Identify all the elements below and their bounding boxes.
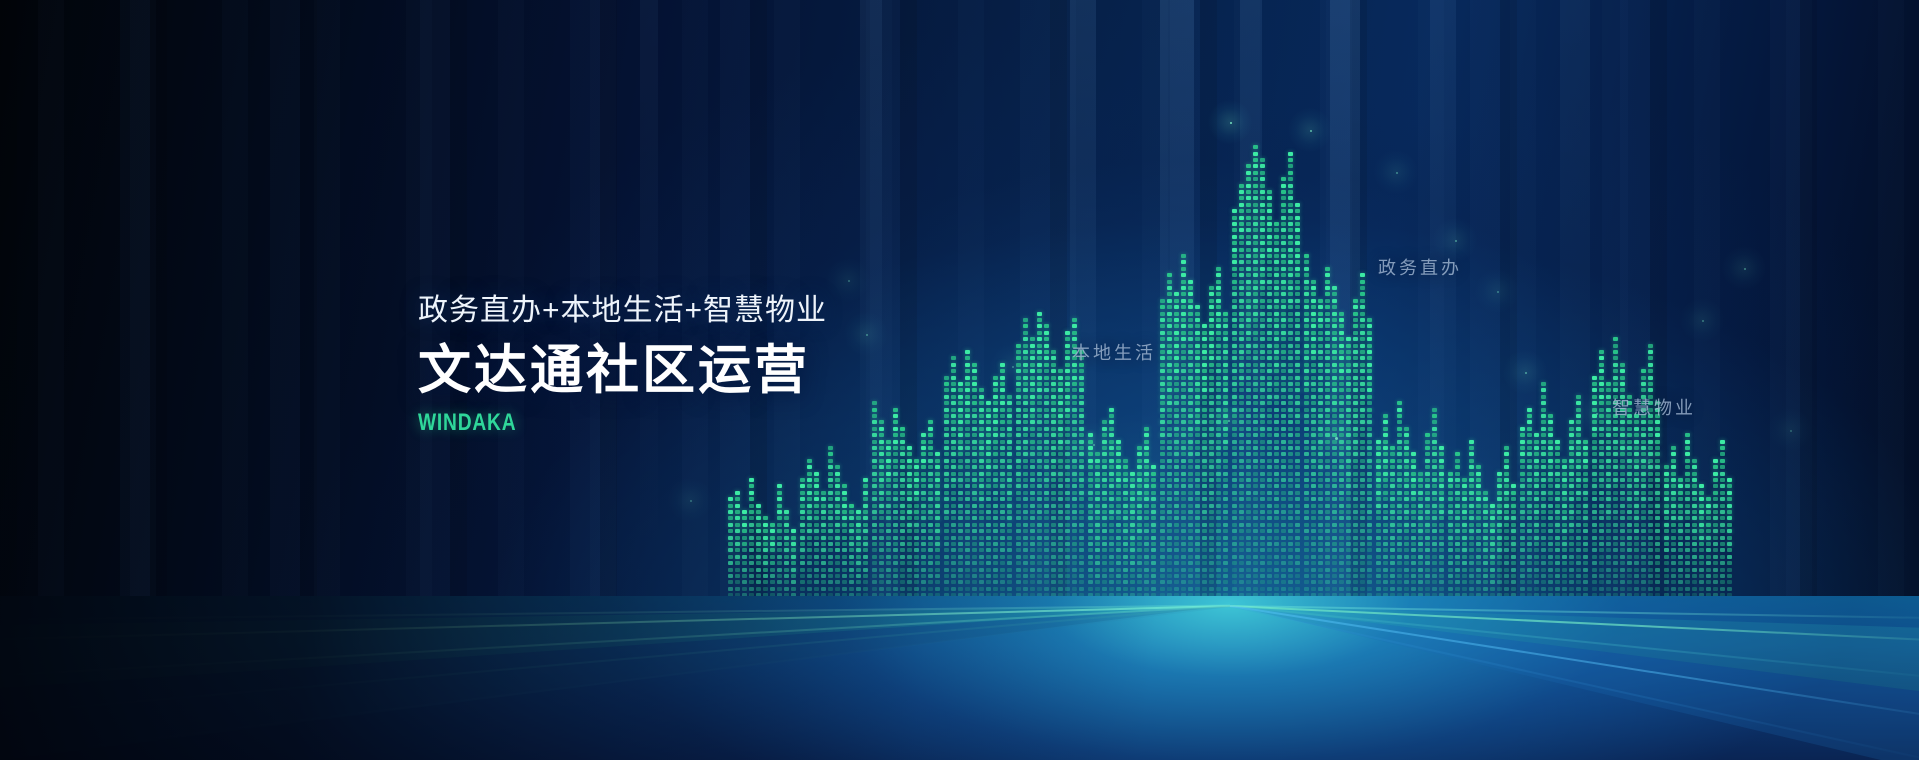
skyline-dot — [944, 548, 949, 552]
skyline-dot — [1295, 561, 1300, 565]
skyline-dot — [1267, 267, 1272, 271]
skyline-dot — [1411, 529, 1416, 533]
skyline-dot — [1232, 440, 1237, 444]
skyline-dot — [1520, 478, 1525, 482]
skyline-dot — [1288, 414, 1293, 418]
skyline-dot — [1281, 299, 1286, 303]
skyline-dot — [1253, 273, 1258, 277]
skyline-dot — [1274, 292, 1279, 296]
skyline-dot — [1720, 440, 1725, 444]
skyline-dot — [921, 568, 926, 572]
skyline-dot — [1239, 382, 1244, 386]
skyline-dot — [1088, 574, 1093, 578]
skyline-dot — [1195, 580, 1200, 584]
skyline-dot — [1065, 504, 1070, 508]
skyline-dot — [951, 574, 956, 578]
skyline-dot — [1655, 510, 1660, 514]
skyline-dot — [1462, 555, 1467, 559]
skyline-dot — [1311, 433, 1316, 437]
skyline-dot — [928, 433, 933, 437]
skyline-dot — [1246, 190, 1251, 194]
skyline-dot — [1648, 427, 1653, 431]
skyline-dot — [1253, 312, 1258, 316]
skyline-dot — [1648, 548, 1653, 552]
skyline-dot — [1339, 408, 1344, 412]
skyline-dot — [1058, 465, 1063, 469]
skyline-dot — [1497, 497, 1502, 501]
skyline-dot — [1527, 452, 1532, 456]
skyline-dot — [1288, 555, 1293, 559]
skyline-dot — [1367, 344, 1372, 348]
skyline-dot — [1037, 568, 1042, 572]
skyline-dot — [1223, 376, 1228, 380]
skyline-dot — [800, 516, 805, 520]
skyline-dot — [1160, 324, 1165, 328]
skyline-dot — [1216, 388, 1221, 392]
skyline-dot — [1246, 273, 1251, 277]
skyline-dot — [1318, 446, 1323, 450]
skyline-dot — [1102, 529, 1107, 533]
skyline-dot — [1281, 523, 1286, 527]
skyline-dot — [1007, 510, 1012, 514]
skyline-dot — [1123, 561, 1128, 565]
skyline-dot — [1664, 555, 1669, 559]
skyline-dot — [1367, 523, 1372, 527]
skyline-dot — [1016, 548, 1021, 552]
skyline-dot — [1000, 395, 1005, 399]
skyline-dot — [935, 459, 940, 463]
skyline-dot — [951, 452, 956, 456]
skyline-dot — [1353, 401, 1358, 405]
skyline-dot — [1483, 510, 1488, 514]
skyline-bar — [1376, 434, 1381, 606]
skyline-dot — [1195, 491, 1200, 495]
skyline-dot — [1606, 536, 1611, 540]
skyline-bar — [1548, 408, 1553, 606]
skyline-dot — [951, 363, 956, 367]
skyline-dot — [1102, 580, 1107, 584]
skyline-dot — [1641, 523, 1646, 527]
skyline-dot — [1044, 574, 1049, 578]
skyline-dot — [900, 523, 905, 527]
skyline-dot — [1462, 548, 1467, 552]
skyline-dot — [979, 427, 984, 431]
skyline-dot — [1195, 305, 1200, 309]
skyline-dot — [1360, 305, 1365, 309]
skyline-dot — [879, 452, 884, 456]
skyline-dot — [1599, 388, 1604, 392]
skyline-dot — [1246, 484, 1251, 488]
skyline-dot — [1497, 580, 1502, 584]
skyline-dot — [1116, 497, 1121, 501]
skyline-dot — [1462, 497, 1467, 501]
skyline-dot — [1397, 574, 1402, 578]
skyline-dot — [921, 491, 926, 495]
skyline-dot — [1548, 574, 1553, 578]
skyline-dot — [1088, 497, 1093, 501]
skyline-dot — [979, 452, 984, 456]
skyline-dot — [1713, 478, 1718, 482]
skyline-dot — [1318, 529, 1323, 533]
skyline-dot — [1202, 440, 1207, 444]
skyline-dot — [1541, 580, 1546, 584]
skyline-dot — [972, 395, 977, 399]
skyline-dot — [1325, 504, 1330, 508]
skyline-dot — [1295, 414, 1300, 418]
skyline-dot — [1058, 580, 1063, 584]
skyline-dot — [749, 523, 754, 527]
skyline-dot — [1007, 529, 1012, 533]
skyline-dot — [1000, 465, 1005, 469]
skyline-dot — [1534, 497, 1539, 501]
skyline-dot — [1144, 440, 1149, 444]
skyline-dot — [1246, 241, 1251, 245]
skyline-dot — [879, 465, 884, 469]
skyline-dot — [1274, 369, 1279, 373]
skyline-dot — [1181, 292, 1186, 296]
skyline-dot — [1044, 504, 1049, 508]
skyline-dot — [800, 478, 805, 482]
skyline-dot — [1030, 542, 1035, 546]
skyline-dot — [1404, 504, 1409, 508]
skyline-dot — [1195, 536, 1200, 540]
skyline-dot — [1239, 299, 1244, 303]
skyline-dot — [1339, 427, 1344, 431]
skyline-dot — [907, 472, 912, 476]
skyline-dot — [886, 472, 891, 476]
skyline-dot — [1246, 254, 1251, 258]
skyline-dot — [1304, 369, 1309, 373]
skyline-dot — [1448, 574, 1453, 578]
skyline-dot — [1613, 516, 1618, 520]
skyline-dot — [886, 452, 891, 456]
skyline-dot — [1599, 408, 1604, 412]
skyline-dot — [900, 427, 905, 431]
skyline-dot — [1167, 472, 1172, 476]
skyline-dot — [1671, 548, 1676, 552]
skyline-dot — [1541, 504, 1546, 508]
skyline-dot — [1641, 491, 1646, 495]
skyline-dot — [1267, 568, 1272, 572]
skyline-dot — [1051, 440, 1056, 444]
skyline-dot — [1167, 388, 1172, 392]
skyline-dot — [1295, 254, 1300, 258]
skyline-dot — [1627, 580, 1632, 584]
skyline-dot — [1058, 427, 1063, 431]
skyline-dot — [784, 516, 789, 520]
skyline-dot — [1288, 574, 1293, 578]
skyline-dot — [1232, 267, 1237, 271]
skyline-dot — [1065, 433, 1070, 437]
skyline-dot — [1246, 427, 1251, 431]
skyline-dot — [1432, 548, 1437, 552]
skyline-dot — [935, 484, 940, 488]
skyline-dot — [1030, 472, 1035, 476]
skyline-dot — [972, 363, 977, 367]
skyline-dot — [1655, 484, 1660, 488]
skyline-dot — [842, 542, 847, 546]
skyline-dot — [1274, 561, 1279, 565]
skyline-dot — [1576, 555, 1581, 559]
skyline-dot — [784, 548, 789, 552]
skyline-dot — [1181, 318, 1186, 322]
skyline-dot — [1267, 536, 1272, 540]
skyline-dot — [1023, 536, 1028, 540]
skyline-dot — [1260, 273, 1265, 277]
skyline-dot — [1065, 388, 1070, 392]
skyline-dot — [1678, 555, 1683, 559]
skyline-dot — [1353, 305, 1358, 309]
skyline-dot — [1455, 478, 1460, 482]
skyline-dot — [1095, 580, 1100, 584]
skyline-dot — [1174, 472, 1179, 476]
skyline-dot — [1030, 420, 1035, 424]
skyline-dot — [1569, 574, 1574, 578]
skyline-dot — [1576, 574, 1581, 578]
skyline-dot — [1051, 568, 1056, 572]
skyline-dot — [1692, 491, 1697, 495]
skyline-dot — [849, 574, 854, 578]
skyline-dot — [1253, 337, 1258, 341]
skyline-dot — [1246, 459, 1251, 463]
skyline-dot — [1439, 542, 1444, 546]
skyline-dot — [886, 484, 891, 488]
skyline-dot — [1281, 331, 1286, 335]
skyline-dot — [1390, 568, 1395, 572]
skyline-dot — [1432, 472, 1437, 476]
skyline-dot — [1304, 254, 1309, 258]
skyline-dot — [1274, 273, 1279, 277]
skyline-dot — [1325, 420, 1330, 424]
skyline-dot — [1325, 369, 1330, 373]
skyline-dot — [1007, 395, 1012, 399]
skyline-dot — [1295, 401, 1300, 405]
skyline-dot — [1188, 574, 1193, 578]
district-label: 智慧物业 — [1612, 394, 1696, 420]
skyline-dot — [1360, 356, 1365, 360]
skyline-dot — [1367, 427, 1372, 431]
skyline-dot — [1188, 555, 1193, 559]
skyline-bar — [1685, 428, 1690, 606]
skyline-dot — [1102, 536, 1107, 540]
skyline-dot — [1000, 580, 1005, 584]
skyline-dot — [1353, 465, 1358, 469]
skyline-dot — [1167, 312, 1172, 316]
skyline-dot — [1692, 516, 1697, 520]
skyline-dot — [1376, 440, 1381, 444]
skyline-dot — [1295, 478, 1300, 482]
skyline-dot — [1232, 356, 1237, 360]
skyline-dot — [928, 529, 933, 533]
skyline-dot — [1023, 497, 1028, 501]
skyline-dot — [1239, 427, 1244, 431]
skyline-dot — [1541, 510, 1546, 514]
skyline-dot — [1569, 433, 1574, 437]
skyline-dot — [1246, 395, 1251, 399]
skyline-dot — [1058, 452, 1063, 456]
skyline-dot — [1295, 548, 1300, 552]
skyline-dot — [1065, 382, 1070, 386]
skyline-dot — [1534, 555, 1539, 559]
skyline-dot — [1376, 478, 1381, 482]
skyline-bar — [828, 446, 833, 606]
skyline-dot — [807, 536, 812, 540]
skyline-dot — [1541, 395, 1546, 399]
skyline-dot — [763, 516, 768, 520]
skyline-dot — [1332, 459, 1337, 463]
skyline-dot — [872, 484, 877, 488]
skyline-dot — [1051, 446, 1056, 450]
skyline-bar — [879, 418, 884, 606]
skyline-dot — [1655, 433, 1660, 437]
skyline-dot — [1655, 472, 1660, 476]
skyline-dot — [1664, 491, 1669, 495]
skyline-dot — [1383, 465, 1388, 469]
skyline-dot — [1346, 382, 1351, 386]
skyline-dot — [1685, 504, 1690, 508]
skyline-dot — [1641, 427, 1646, 431]
skyline-dot — [886, 561, 891, 565]
skyline-dot — [1174, 344, 1179, 348]
skyline-dot — [742, 548, 747, 552]
skyline-bar — [1079, 344, 1084, 606]
skyline-dot — [1181, 433, 1186, 437]
skyline-dot — [1044, 478, 1049, 482]
skyline-dot — [1144, 433, 1149, 437]
skyline-dot — [1232, 337, 1237, 341]
skyline-dot — [1167, 318, 1172, 322]
skyline-dot — [1030, 491, 1035, 495]
skyline-dot — [1232, 472, 1237, 476]
skyline-dot — [1555, 472, 1560, 476]
skyline-dot — [1288, 516, 1293, 520]
skyline-dot — [1267, 299, 1272, 303]
skyline-dot — [879, 459, 884, 463]
skyline-dot — [1418, 561, 1423, 565]
skyline-dot — [879, 574, 884, 578]
skyline-dot — [863, 580, 868, 584]
skyline-dot — [1007, 516, 1012, 520]
skyline-dot — [1548, 516, 1553, 520]
skyline-dot — [1439, 510, 1444, 514]
skyline-dot — [1311, 504, 1316, 508]
skyline-dot — [1044, 472, 1049, 476]
skyline-dot — [1232, 216, 1237, 220]
skyline-dot — [1706, 529, 1711, 533]
skyline-dot — [1288, 420, 1293, 424]
skyline-dot — [1418, 484, 1423, 488]
skyline-dot — [1216, 376, 1221, 380]
skyline-dot — [921, 484, 926, 488]
skyline-dot — [1030, 356, 1035, 360]
skyline-dot — [1051, 574, 1056, 578]
skyline-dot — [944, 433, 949, 437]
skyline-dot — [1339, 446, 1344, 450]
skyline-dot — [1181, 395, 1186, 399]
skyline-dot — [1295, 408, 1300, 412]
skyline-dot — [1167, 491, 1172, 495]
skyline-dot — [1037, 382, 1042, 386]
skyline-dot — [1030, 516, 1035, 520]
skyline-dot — [814, 510, 819, 514]
skyline-dot — [1325, 465, 1330, 469]
skyline-dot — [1504, 580, 1509, 584]
skyline-dot — [921, 504, 926, 508]
skyline-dot — [1367, 555, 1372, 559]
skyline-dot — [1151, 574, 1156, 578]
skyline-dot — [1425, 440, 1430, 444]
skyline-dot — [979, 555, 984, 559]
skyline-dot — [986, 497, 991, 501]
skyline-dot — [1304, 459, 1309, 463]
skyline-dot — [856, 542, 861, 546]
skyline-bar — [986, 400, 991, 606]
skyline-dot — [1476, 542, 1481, 546]
skyline-dot — [863, 504, 868, 508]
skyline-dot — [951, 408, 956, 412]
skyline-dot — [1304, 446, 1309, 450]
skyline-dot — [1239, 484, 1244, 488]
skyline-dot — [1411, 472, 1416, 476]
skyline-dot — [1527, 555, 1532, 559]
skyline-dot — [1511, 484, 1516, 488]
skyline-dot — [1160, 472, 1165, 476]
skyline-dot — [1318, 561, 1323, 565]
skyline-bar — [935, 448, 940, 606]
skyline-dot — [1051, 376, 1056, 380]
skyline-dot — [749, 529, 754, 533]
skyline-dot — [1079, 382, 1084, 386]
skyline-dot — [986, 542, 991, 546]
skyline-dot — [1360, 472, 1365, 476]
skyline-dot — [1685, 548, 1690, 552]
skyline-dot — [749, 548, 754, 552]
skyline-dot — [1648, 440, 1653, 444]
skyline-dot — [1332, 312, 1337, 316]
skyline-dot — [1209, 286, 1214, 290]
skyline-dot — [728, 568, 733, 572]
skyline-dot — [1088, 516, 1093, 520]
skyline-dot — [1123, 484, 1128, 488]
skyline-dot — [1332, 369, 1337, 373]
skyline-dot — [879, 555, 884, 559]
skyline-dot — [1332, 344, 1337, 348]
skyline-dot — [1397, 478, 1402, 482]
skyline-dot — [893, 523, 898, 527]
skyline-dot — [1599, 363, 1604, 367]
skyline-dot — [807, 497, 812, 501]
skyline-dot — [1562, 459, 1567, 463]
skyline-dot — [1260, 209, 1265, 213]
skyline-dot — [1288, 459, 1293, 463]
skyline-dot — [879, 446, 884, 450]
skyline-dot — [1260, 516, 1265, 520]
skyline-dot — [1016, 414, 1021, 418]
skyline-dot — [1504, 542, 1509, 546]
skyline-dot — [1418, 529, 1423, 533]
skyline-dot — [1137, 465, 1142, 469]
skyline-dot — [1404, 433, 1409, 437]
skyline-bar — [1174, 288, 1179, 606]
skyline-dot — [1576, 452, 1581, 456]
skyline-dot — [1613, 344, 1618, 348]
skyline-dot — [1404, 491, 1409, 495]
skyline-dot — [1541, 542, 1546, 546]
skyline-dot — [1678, 484, 1683, 488]
skyline-dot — [735, 548, 740, 552]
skyline-dot — [1232, 222, 1237, 226]
skyline-dot — [951, 446, 956, 450]
